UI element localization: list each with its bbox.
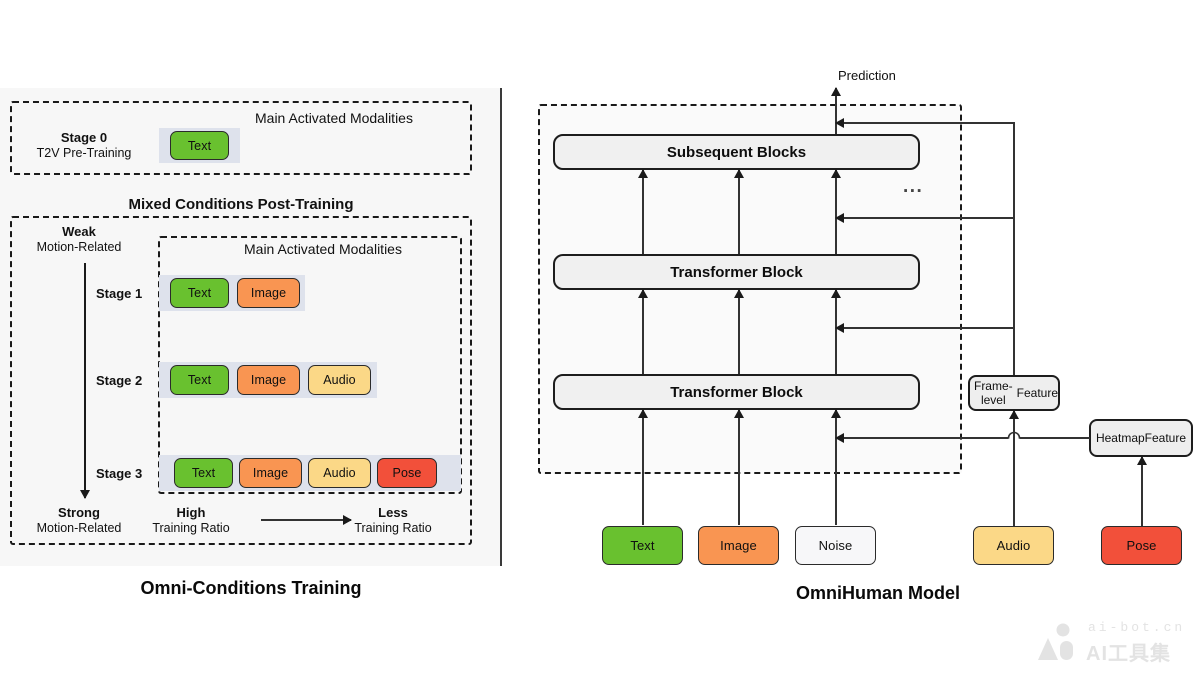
watermark-brand: AI工具集 xyxy=(1086,637,1171,666)
flow-arrow-image-1 xyxy=(738,170,740,254)
stage2-chip-image[interactable]: Image xyxy=(237,365,300,395)
stage0-sublabel: T2V Pre-Training xyxy=(24,146,144,160)
input-box-audio[interactable]: Audio xyxy=(973,526,1054,565)
frame-feature-branch-bottom xyxy=(836,327,1014,329)
stage0-chip-text[interactable]: Text xyxy=(170,131,229,160)
heatmap-feature-line2: Feature xyxy=(1145,431,1186,445)
frame-level-feature-line1: Frame-level xyxy=(970,379,1017,407)
flow-arrow-text-1 xyxy=(642,170,644,254)
flow-arrow-image-2 xyxy=(738,290,740,374)
stage3-chip-audio[interactable]: Audio xyxy=(308,458,371,488)
frame-feature-branch-top xyxy=(836,122,1014,124)
heatmap-feature-box[interactable]: Heatmap Feature xyxy=(1089,419,1193,457)
stage2-label: Stage 2 xyxy=(96,373,142,388)
left-caption: Omni-Conditions Training xyxy=(71,578,431,599)
mixed-conditions-title: Mixed Conditions Post-Training xyxy=(86,196,396,213)
stage0-label: Stage 0 xyxy=(38,130,130,145)
input-box-pose[interactable]: Pose xyxy=(1101,526,1182,565)
frame-feature-feed-line xyxy=(1013,122,1015,375)
transformer-block-1[interactable]: Transformer Block xyxy=(553,374,920,410)
panel-divider xyxy=(500,88,502,566)
input-box-image[interactable]: Image xyxy=(698,526,779,565)
axis-strong-label: Strong xyxy=(33,505,125,520)
input-box-text[interactable]: Text xyxy=(602,526,683,565)
ratio-less-sublabel: Training Ratio xyxy=(333,521,453,535)
flow-arrow-text-2 xyxy=(642,290,644,374)
stage1-label: Stage 1 xyxy=(96,286,142,301)
prediction-label: Prediction xyxy=(838,68,896,83)
ellipsis-label: ... xyxy=(903,176,923,198)
heatmap-feature-line1: Heatmap xyxy=(1096,431,1145,445)
frame-level-feature-line2: Feature xyxy=(1017,386,1058,400)
watermark-logo-icon xyxy=(1032,622,1080,666)
flow-arrow-image-input xyxy=(738,410,740,525)
input-box-noise[interactable]: Noise xyxy=(795,526,876,565)
watermark-domain: ai-bot.cn xyxy=(1088,620,1185,635)
axis-weak-sublabel: Motion-Related xyxy=(19,240,139,254)
heatmap-feature-branch-right xyxy=(1020,437,1090,439)
transformer-block-2[interactable]: Transformer Block xyxy=(553,254,920,290)
stage1-chip-text[interactable]: Text xyxy=(170,278,229,308)
motion-strength-arrow xyxy=(84,263,86,498)
stage3-chip-image[interactable]: Image xyxy=(239,458,302,488)
watermark: ai-bot.cn AI工具集 xyxy=(1030,618,1190,666)
ratio-less-label: Less xyxy=(347,505,439,520)
stage0-modalities-heading: Main Activated Modalities xyxy=(255,110,413,126)
stage3-label: Stage 3 xyxy=(96,466,142,481)
pose-to-heatmap-arrow xyxy=(1141,457,1143,526)
stage2-chip-text[interactable]: Text xyxy=(170,365,229,395)
flow-arrow-noise-input xyxy=(835,410,837,525)
subsequent-blocks[interactable]: Subsequent Blocks xyxy=(553,134,920,170)
frame-level-feature-box[interactable]: Frame-level Feature xyxy=(968,375,1060,411)
stage3-chip-pose[interactable]: Pose xyxy=(377,458,437,488)
stage1-chip-image[interactable]: Image xyxy=(237,278,300,308)
flow-arrow-text-input xyxy=(642,410,644,525)
stage2-chip-audio[interactable]: Audio xyxy=(308,365,371,395)
stage3-chip-text[interactable]: Text xyxy=(174,458,233,488)
post-training-modalities-heading: Main Activated Modalities xyxy=(244,241,402,257)
frame-feature-branch-mid xyxy=(836,217,1014,219)
ratio-high-label: High xyxy=(145,505,237,520)
axis-strong-sublabel: Motion-Related xyxy=(19,521,139,535)
ratio-high-sublabel: Training Ratio xyxy=(131,521,251,535)
axis-weak-label: Weak xyxy=(33,224,125,239)
right-caption: OmniHuman Model xyxy=(698,583,1058,604)
heatmap-feature-branch-left xyxy=(836,437,1008,439)
